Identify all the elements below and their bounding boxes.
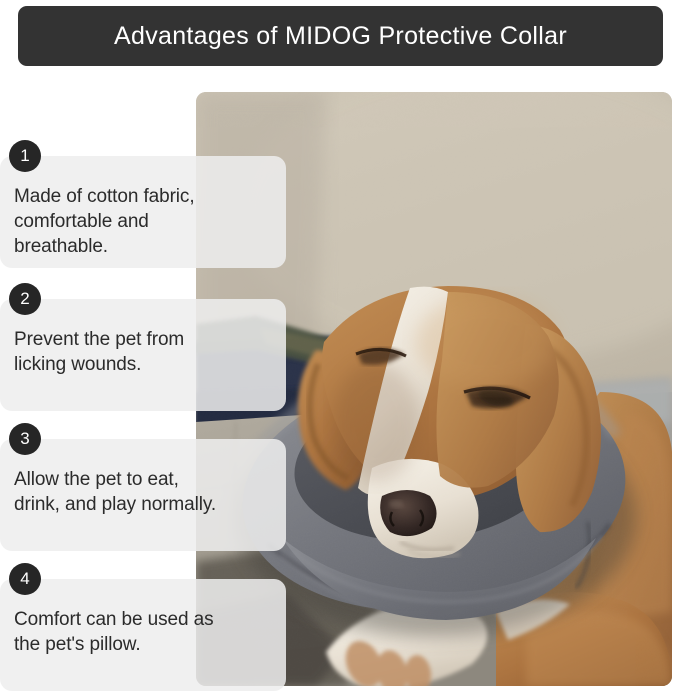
feature-number-badge-1: 1 — [9, 140, 41, 172]
header-banner: Advantages of MIDOG Protective Collar — [18, 6, 663, 66]
feature-text-3: Allow the pet to eat, drink, and play no… — [14, 467, 276, 517]
feature-number-badge-3: 3 — [9, 423, 41, 455]
feature-number-badge-2: 2 — [9, 283, 41, 315]
feature-text-4: Comfort can be used as the pet's pillow. — [14, 607, 276, 657]
feature-number-badge-4: 4 — [9, 563, 41, 595]
feature-text-2: Prevent the pet from licking wounds. — [14, 327, 276, 377]
feature-text-1: Made of cotton fabric, comfortable and b… — [14, 184, 276, 259]
page-title: Advantages of MIDOG Protective Collar — [114, 22, 567, 51]
